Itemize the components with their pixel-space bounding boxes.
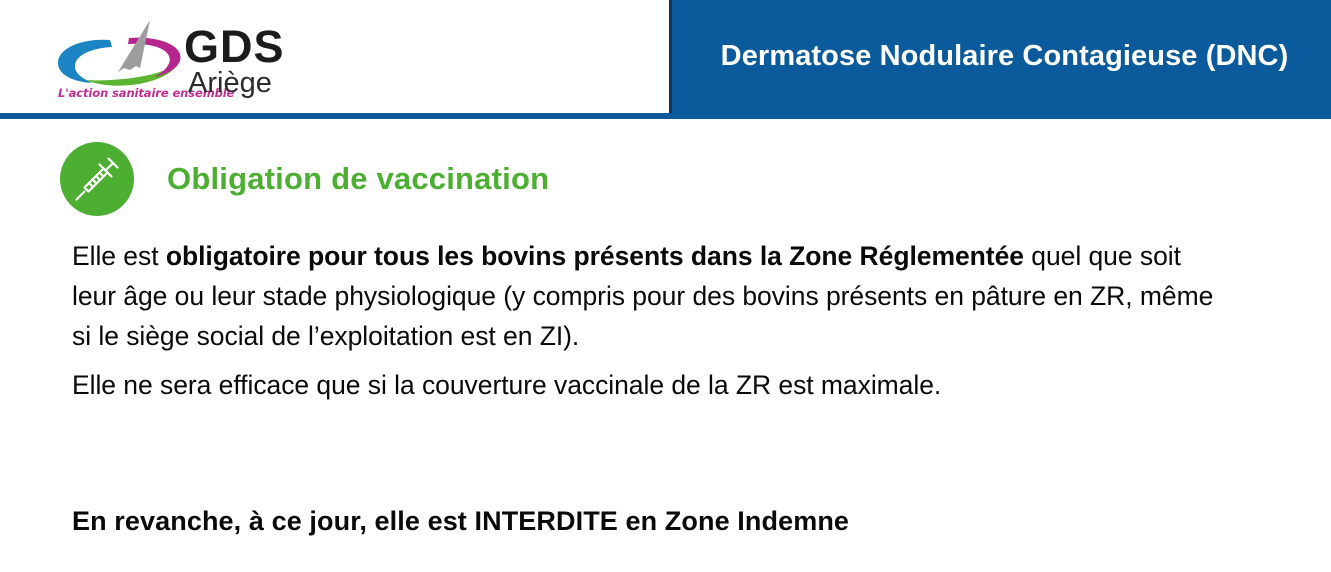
content-body: Elle est obligatoire pour tous les bovin… bbox=[72, 236, 1272, 405]
section-heading-label: Obligation de vaccination bbox=[167, 161, 549, 197]
disease-title-banner: Dermatose Nodulaire Contagieuse (DNC) bbox=[672, 0, 1331, 113]
closing-statement: En revanche, à ce jour, elle est INTERDI… bbox=[72, 506, 849, 537]
gds-swoosh-icon bbox=[52, 18, 192, 92]
paragraph-bold-emphasis: obligatoire pour tous les bovins présent… bbox=[166, 241, 1024, 271]
section-heading: Obligation de vaccination bbox=[60, 142, 549, 216]
paragraph-efficacy: Elle ne sera efficace que si la couvertu… bbox=[72, 365, 1272, 405]
syringe-icon bbox=[60, 142, 134, 216]
paragraph-obligation: Elle est obligatoire pour tous les bovin… bbox=[72, 236, 1232, 356]
gds-ariege-logo: L'action sanitaire ensemble GDS Ariège bbox=[52, 18, 342, 110]
logo-region-text: Ariège bbox=[188, 69, 272, 98]
header-divider bbox=[0, 113, 1331, 119]
banner-title-text: Dermatose Nodulaire Contagieuse (DNC) bbox=[721, 40, 1289, 73]
paragraph-lead: Elle est bbox=[72, 241, 166, 271]
logo-gds-text: GDS bbox=[184, 24, 285, 69]
page-header: L'action sanitaire ensemble GDS Ariège D… bbox=[0, 0, 1331, 119]
